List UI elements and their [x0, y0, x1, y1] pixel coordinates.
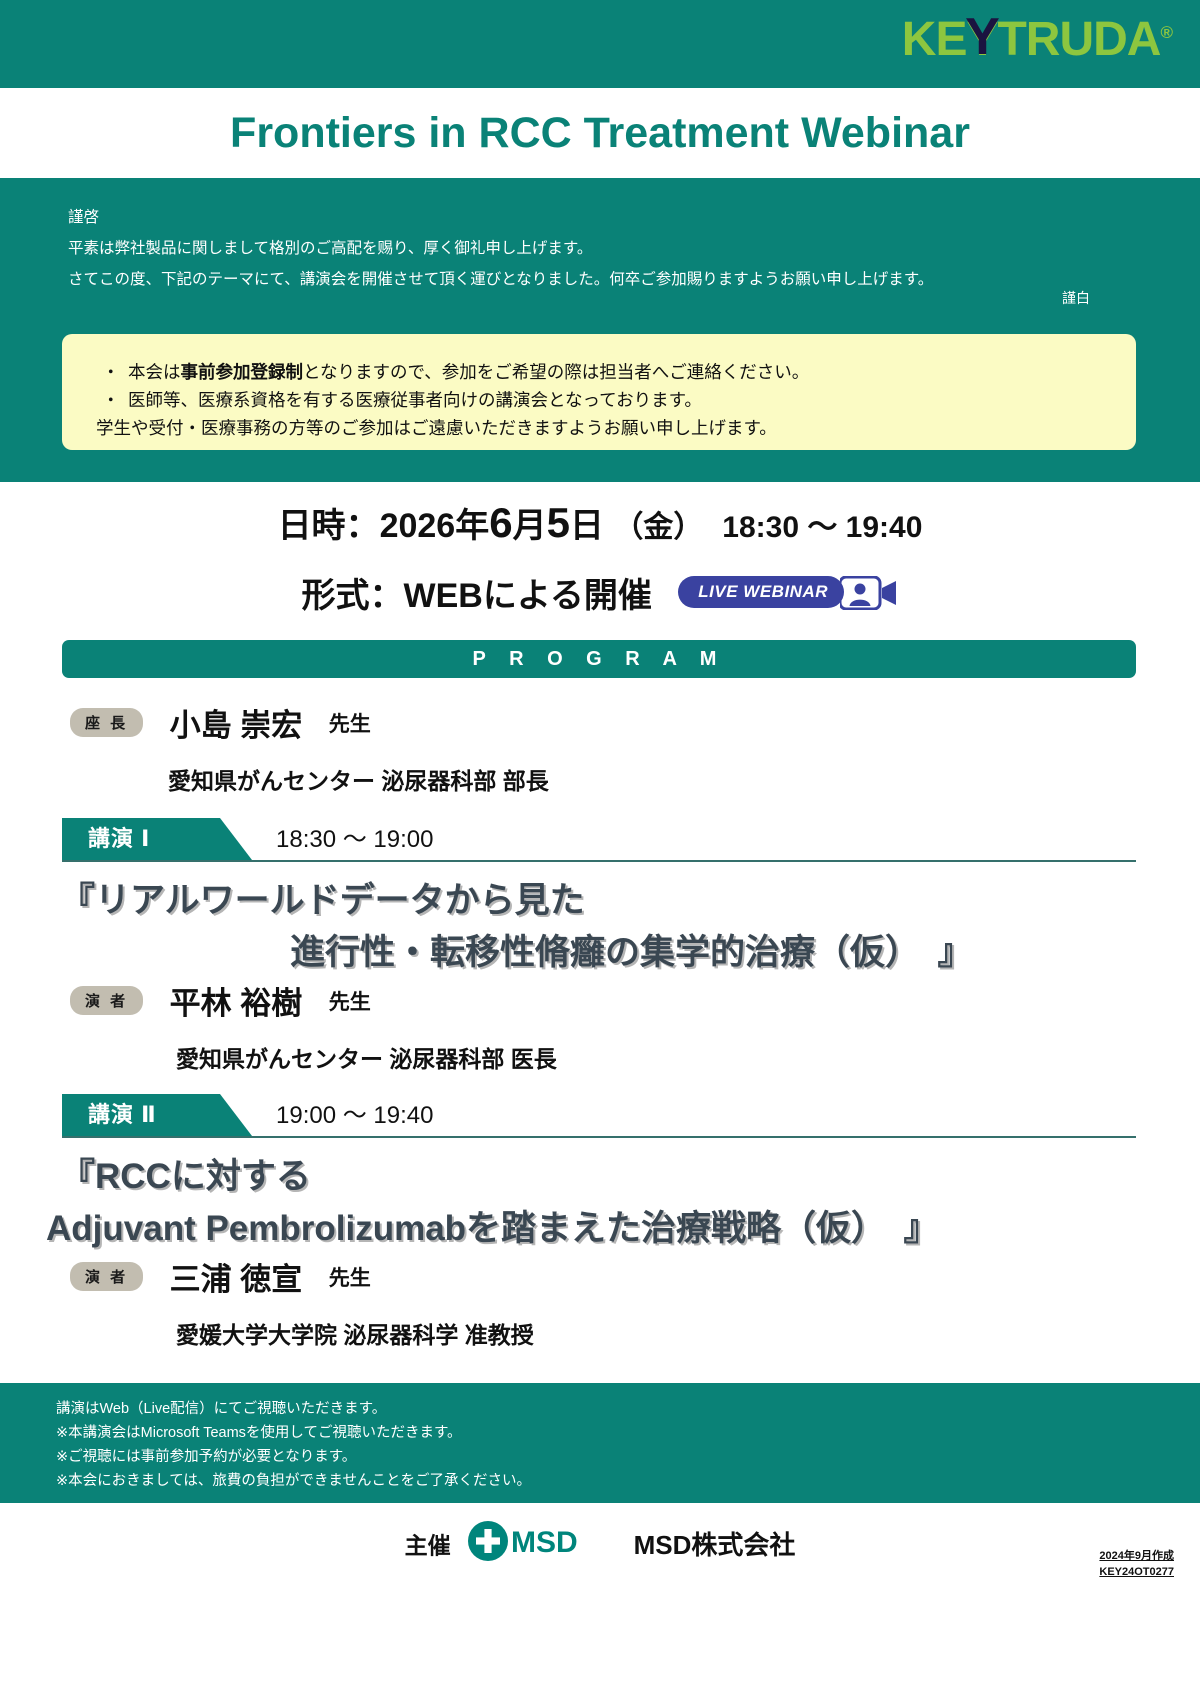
lecture-1-speaker-row: 演 者 平林 裕樹 先生 — [70, 978, 371, 1023]
format-value: WEBによる開催 — [404, 577, 652, 615]
lecture-2-speaker-honorific: 先生 — [329, 1267, 371, 1290]
event-day-unit: 日 — [570, 507, 604, 545]
event-year: 2026年 — [380, 507, 490, 545]
event-month-unit: 月 — [513, 507, 547, 545]
lecture-2-tab: 講演 Ⅱ — [62, 1094, 252, 1136]
logo-text-ke: KE — [902, 13, 967, 66]
chair-row: 座 長 小島 崇宏 先生 — [70, 700, 371, 745]
lecture-2-rule — [62, 1136, 1136, 1138]
notice-item-2: 医師等、医療系資格を有する医療従事者向けの講演会となっております。 — [128, 390, 702, 410]
footer-line-3: ※ご視聴には事前参加予約が必要となります。 — [56, 1445, 356, 1469]
sponsor-row: 主催 MSD MSD株式会社 — [0, 1520, 1200, 1567]
event-weekday: （金） — [613, 511, 703, 544]
notice-item-audience: ・ 医師等、医療系資格を有する医療従事者向けの講演会となっております。 — [94, 386, 1136, 414]
webcam-person-icon — [840, 576, 898, 610]
notice-item-1-bold: 事前参加登録制 — [181, 362, 304, 382]
lecture-1-speaker-affiliation: 愛知県がんセンター 泌尿器科部 医長 — [176, 1040, 557, 1074]
lecture-1-speaker-name: 平林 裕樹 — [170, 986, 303, 1021]
logo-text-truda: TRUDA — [997, 13, 1160, 66]
notice-item-registration: ・ 本会は事前参加登録制となりますので、参加をご希望の際は担当者へご連絡ください… — [94, 358, 1136, 386]
notice-item-1-a: 本会は — [128, 362, 181, 382]
lecture-2-speaker-row: 演 者 三浦 徳宣 先生 — [70, 1254, 371, 1299]
logo-antibody-y: YY — [966, 16, 997, 64]
greeting-section: 謹啓 平素は弊社製品に関しまして格別のご高配を赐り、厚く御礼申し上げます。 さて… — [0, 178, 1200, 482]
event-datetime: 日時：2026年6月5日 （金） 18:30 ～ 19:40 — [0, 498, 1200, 547]
greeting-text: 謹啓 平素は弊社製品に関しまして格別のご高配を赐り、厚く御礼申し上げます。 さて… — [68, 202, 1128, 295]
lecture-2-speaker-role-badge: 演 者 — [70, 1262, 143, 1291]
chair-affiliation: 愛知県がんセンター 泌尿器科部 部長 — [168, 762, 549, 796]
material-code-date: 2024年9月作成 — [1099, 1548, 1174, 1564]
lecture-2-title-line-1: 『RCCに対する — [60, 1148, 311, 1199]
title-band: Frontiers in RCC Treatment Webinar — [0, 88, 1200, 178]
lecture-1-title-line-1: 『リアルワールドデータから見た — [60, 872, 585, 923]
lecture-1-title-line-2: 進行性・転移性脩癰の集学的治療（仮） 』 — [290, 924, 973, 975]
event-day: 5 — [547, 499, 570, 546]
material-code: 2024年9月作成 KEY24OT0277 — [1099, 1548, 1174, 1580]
footer-line-1: 講演はWeb（Live配信）にてご視聴いただきます。 — [56, 1397, 386, 1421]
header-band: KEYYTRUDA® — [0, 0, 1200, 88]
msd-logo: MSD — [467, 1520, 617, 1567]
material-code-id: KEY24OT0277 — [1099, 1564, 1174, 1580]
lecture-1-rule — [62, 860, 1136, 862]
bullet-icon: ・ — [102, 358, 120, 386]
registered-trademark-icon: ® — [1160, 23, 1172, 42]
chair-role-badge: 座 長 — [70, 708, 143, 737]
lecture-2-time: 19:00 ～ 19:40 — [276, 1094, 433, 1136]
event-time-range: 18:30 ～ 19:40 — [722, 511, 922, 544]
chair-name: 小島 崇宏 — [170, 708, 303, 743]
event-format-row: 形式：WEBによる開催 LIVE WEBINAR — [0, 568, 1200, 617]
format-label: 形式： — [302, 577, 404, 615]
lecture-2-speaker-name: 三浦 徳宣 — [170, 1262, 303, 1297]
logo-y-dark-overlay: Y — [965, 11, 999, 63]
date-label: 日時： — [278, 507, 380, 545]
notice-item-2-sub: 学生や受付・医療事務の方等のご参加はご遠慮いただきますようお願い申し上げます。 — [62, 414, 1136, 442]
footer-line-4: ※本会におきましては、旅費の負担ができませんことをご了承ください。 — [56, 1469, 531, 1493]
lecture-2-header: 講演 Ⅱ 19:00 ～ 19:40 — [62, 1094, 1136, 1140]
footer-line-2: ※本講演会はMicrosoft Teamsを使用してご視聴いただきます。 — [56, 1421, 462, 1445]
notice-box: ・ 本会は事前参加登録制となりますので、参加をご希望の際は担当者へご連絡ください… — [62, 334, 1136, 450]
lecture-1-speaker-role-badge: 演 者 — [70, 986, 143, 1015]
page-title: Frontiers in RCC Treatment Webinar — [0, 88, 1200, 178]
lecture-2-title-line-2: Adjuvant Pembrolizumabを踏まえた治療戦略（仮） 』 — [46, 1200, 939, 1251]
notice-item-1-c: となりますので、参加をご希望の際は担当者へご連絡ください。 — [303, 362, 809, 382]
svg-text:MSD: MSD — [511, 1526, 578, 1559]
lecture-1-time: 18:30 ～ 19:00 — [276, 818, 433, 860]
lecture-1-speaker-honorific: 先生 — [329, 991, 371, 1014]
greeting-line-2: さてこの度、下記のテーマにて、講演会を開催させて頂く運びとなりました。何卒ご参加… — [68, 264, 1128, 295]
greeting-line-1: 平素は弊社製品に関しまして格別のご高配を赐り、厚く御礼申し上げます。 — [68, 233, 1128, 264]
lecture-1-header: 講演 Ⅰ 18:30 ～ 19:00 — [62, 818, 1136, 864]
lecture-2-speaker-affiliation: 愛媛大学大学院 泌尿器科学 准教授 — [176, 1316, 534, 1350]
live-webinar-label: LIVE WEBINAR — [678, 576, 844, 608]
greeting-salutation: 謹啓 — [68, 202, 1128, 233]
greeting-closing: 謹白 — [1062, 288, 1090, 308]
keytruda-logo: KEYYTRUDA® — [902, 16, 1172, 64]
program-header: P R O G R A M — [62, 640, 1136, 678]
live-webinar-badge: LIVE WEBINAR — [678, 576, 898, 610]
chair-honorific: 先生 — [329, 713, 371, 736]
lecture-1-tab: 講演 Ⅰ — [62, 818, 252, 860]
sponsor-label: 主催 — [405, 1533, 451, 1559]
notice-list: ・ 本会は事前参加登録制となりますので、参加をご希望の際は担当者へご連絡ください… — [62, 334, 1136, 414]
sponsor-company: MSD株式会社 — [634, 1530, 796, 1560]
event-month: 6 — [489, 499, 512, 546]
bullet-icon: ・ — [102, 386, 120, 414]
footer-band: 講演はWeb（Live配信）にてご視聴いただきます。 ※本講演会はMicroso… — [0, 1383, 1200, 1503]
